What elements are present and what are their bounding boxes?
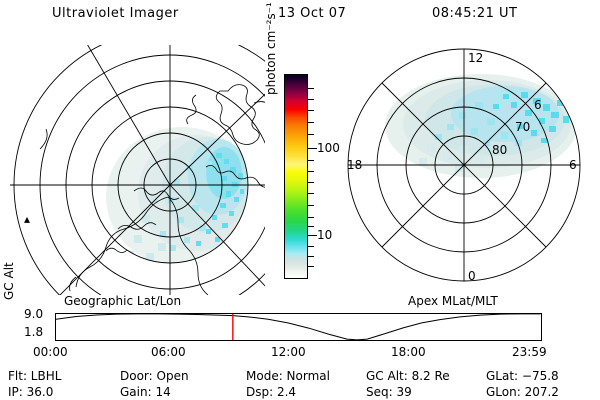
mlat-label-70: 70 xyxy=(515,120,530,134)
status-ip: IP: 36.0 xyxy=(8,385,53,399)
aurora-emission-region xyxy=(106,127,258,267)
colorbar-tick-label-10: 10 xyxy=(317,229,332,241)
observation-time: 08:45:21 UT xyxy=(432,6,517,21)
colorbar[interactable]: 100 10 xyxy=(284,74,308,279)
status-glat: GLat: −75.8 xyxy=(486,369,559,383)
time-tick-0000: 00:00 xyxy=(33,345,68,359)
mlt-label-12: 12 xyxy=(468,51,483,65)
mlt-label-18: 18 xyxy=(347,158,362,172)
status-gain: Gain: 14 xyxy=(120,385,171,399)
colorbar-gradient xyxy=(284,74,308,279)
time-tick-0600: 06:00 xyxy=(151,345,186,359)
status-flt: Flt: LBHL xyxy=(8,369,61,383)
altitude-trace xyxy=(56,314,541,340)
status-gcalt: GC Alt: 8.2 Re xyxy=(366,369,450,383)
status-mode: Mode: Normal xyxy=(246,369,330,383)
mlt-label-6: 6 xyxy=(569,158,577,172)
left-panel-title: Geographic Lat/Lon xyxy=(64,294,181,308)
strip-ylabel: GC Alt xyxy=(2,262,16,300)
mlat-label-80: 80 xyxy=(492,143,507,157)
mlat-label-60: 6 xyxy=(534,98,542,112)
colorbar-axis-label: photon cm⁻²s⁻¹ xyxy=(264,79,278,95)
right-panel-title: Apex MLat/MLT xyxy=(408,294,498,308)
mlt-label-0: 0 xyxy=(468,269,476,283)
status-glon: GLon: 207.2 xyxy=(486,385,559,399)
observation-date: 13 Oct 07 xyxy=(278,6,346,21)
instrument-title: Ultraviolet Imager xyxy=(52,6,179,21)
mlt-spokes xyxy=(348,49,580,281)
status-dsp: Dsp: 2.4 xyxy=(246,385,296,399)
apex-mlt-dial-plot[interactable]: 12 6 0 18 6 70 80 xyxy=(335,40,600,295)
map-margin-glyph: ▴ xyxy=(24,212,30,226)
time-tick-1200: 12:00 xyxy=(271,345,306,359)
time-tick-1800: 18:00 xyxy=(391,345,426,359)
aurora-oval-region xyxy=(385,74,577,178)
status-seq: Seq: 39 xyxy=(366,385,412,399)
orbit-altitude-strip-chart[interactable] xyxy=(55,313,542,341)
time-tick-2359: 23:59 xyxy=(512,345,547,359)
geographic-polar-plot[interactable]: ▴ xyxy=(10,45,265,295)
status-door: Door: Open xyxy=(120,369,189,383)
